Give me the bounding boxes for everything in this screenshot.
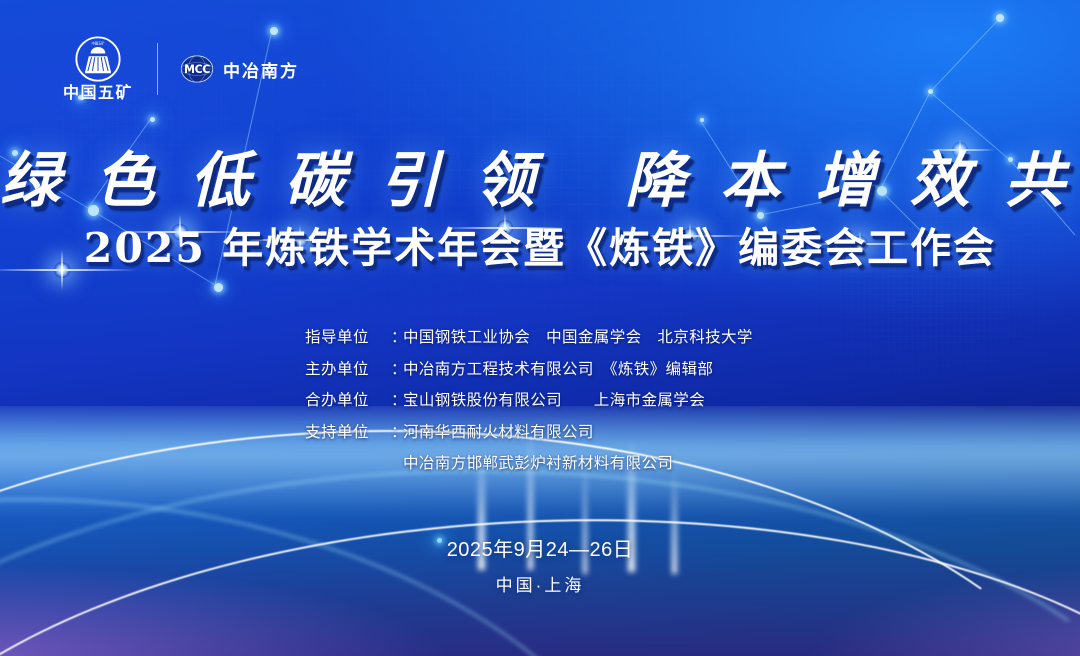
organization-value: 中国钢铁工业协会 中国金属学会 北京科技大学 bbox=[403, 330, 753, 346]
organization-value: 河南华西耐火材料有限公司 bbox=[403, 425, 594, 441]
event-date: 2025年9月24—26日 bbox=[0, 533, 1080, 562]
logo-mcc-label: 中冶南方 bbox=[223, 57, 299, 82]
footer-block: 2025年9月24—26日 中国·上海 bbox=[0, 533, 1080, 596]
organization-row: 主办单位 ： 中冶南方工程技术有限公司 《炼铁》编辑部 bbox=[305, 362, 775, 378]
organization-list: 指导单位 ： 中国钢铁工业协会 中国金属学会 北京科技大学 主办单位 ： 中冶南… bbox=[0, 330, 1080, 488]
svg-text:中国五矿: 中国五矿 bbox=[92, 40, 106, 45]
logo-minmetals-label: 中国五矿 bbox=[63, 86, 133, 102]
organization-colon: ： bbox=[391, 425, 403, 441]
organization-row: 合办单位 ： 宝山钢铁股份有限公司 上海市金属学会 bbox=[305, 393, 775, 409]
organization-row-continuation: 支持单位 ： 中冶南方邯郸武彭炉衬新材料有限公司 bbox=[305, 456, 775, 472]
organization-colon: ： bbox=[391, 330, 403, 346]
mcc-globe-icon: MCC bbox=[180, 54, 214, 84]
organization-row: 指导单位 ： 中国钢铁工业协会 中国金属学会 北京科技大学 bbox=[305, 330, 775, 346]
main-title: 绿 色 低 碳 引 领 降 本 增 效 共 赢 bbox=[0, 150, 1080, 214]
organization-colon: ： bbox=[391, 393, 403, 409]
sub-title: 2025 年炼铁学术年会暨《炼铁》编委会工作会 bbox=[0, 226, 1080, 271]
organization-value: 宝山钢铁股份有限公司 上海市金属学会 bbox=[403, 393, 705, 409]
logo-china-minmetals[interactable]: 中国五矿 中国五矿 bbox=[63, 36, 133, 102]
svg-text:MCC: MCC bbox=[184, 63, 210, 76]
organization-colon: ： bbox=[391, 362, 403, 378]
organization-label: 支持单位 bbox=[305, 425, 391, 441]
header-logos: 中国五矿 中国五矿 MCC 中冶南方 bbox=[63, 36, 299, 102]
organization-label: 合办单位 bbox=[305, 393, 391, 409]
event-place: 中国·上海 bbox=[0, 571, 1080, 596]
organization-row: 支持单位 ： 河南华西耐火材料有限公司 bbox=[305, 425, 775, 441]
organization-label: 指导单位 bbox=[305, 330, 391, 346]
title-block: 绿 色 低 碳 引 领 降 本 增 效 共 赢 2025 年炼铁学术年会暨《炼铁… bbox=[0, 150, 1080, 271]
minmetals-emblem-icon: 中国五矿 bbox=[75, 36, 121, 82]
conference-banner: 中国五矿 中国五矿 MCC 中冶南方 绿 色 低 碳 引 领 降 本 增 效 共… bbox=[0, 0, 1080, 656]
organization-value: 中冶南方工程技术有限公司 《炼铁》编辑部 bbox=[403, 362, 713, 378]
organization-value: 中冶南方邯郸武彭炉衬新材料有限公司 bbox=[403, 456, 673, 472]
logo-divider bbox=[157, 43, 158, 95]
organization-label: 主办单位 bbox=[305, 362, 391, 378]
logo-mcc-south[interactable]: MCC 中冶南方 bbox=[180, 54, 299, 84]
